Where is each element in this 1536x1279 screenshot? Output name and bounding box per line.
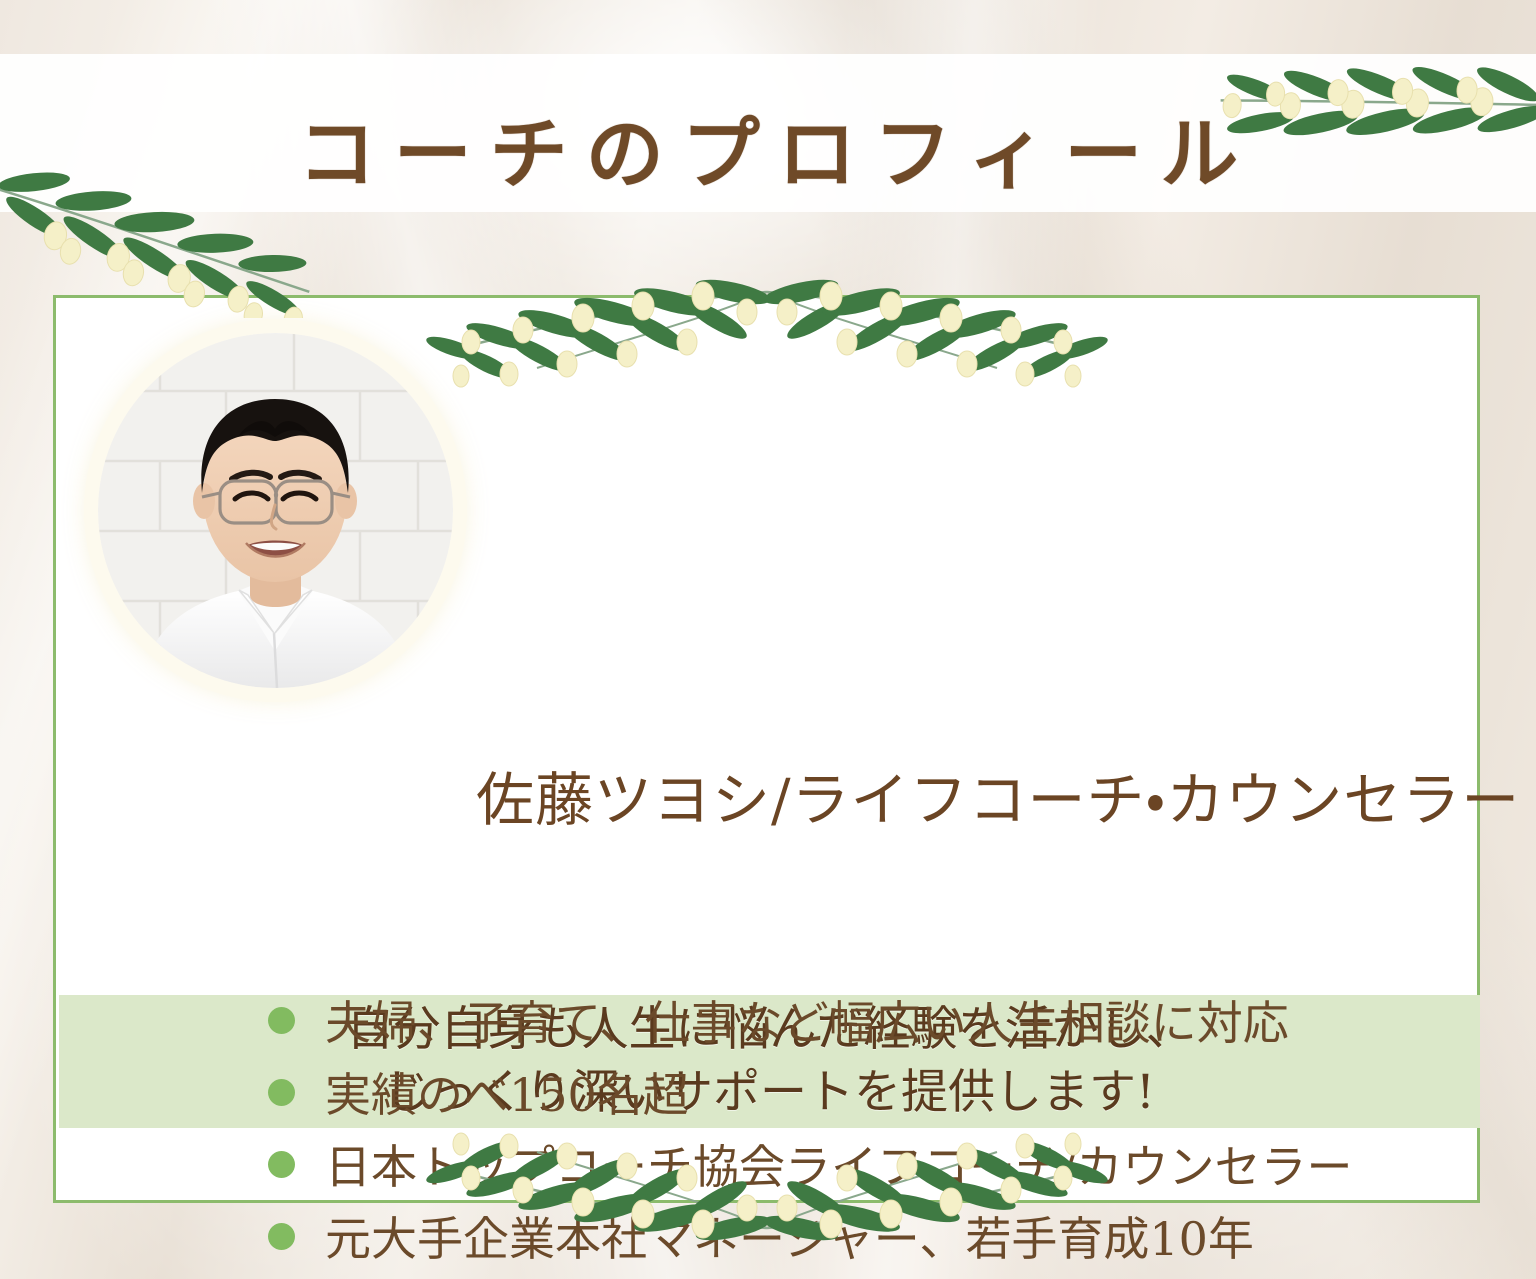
list-item-label: 夫婦、子育て、仕事など幅広い人生相談に対応: [325, 987, 1289, 1053]
profile-page: コーチのプロフィール: [0, 0, 1536, 1279]
page-title: コーチのプロフィール: [0, 104, 1536, 207]
list-item-label: 実績のべ150名超: [325, 1059, 689, 1125]
olive-wreath-icon: [417, 272, 1117, 412]
bullet-dot-icon: [268, 1007, 295, 1034]
bullet-dot-icon: [268, 1151, 295, 1178]
list-item-label: 日本トップコーチ協会ライフコーチ/カウンセラー: [325, 1131, 1353, 1197]
coach-name: 佐藤ツヨシ/ライフコーチ・カウンセラー: [476, 753, 1466, 837]
bullet-dot-icon: [268, 1223, 295, 1250]
bullet-dot-icon: [268, 1079, 295, 1106]
list-item: 夫婦、子育て、仕事など幅広い人生相談に対応: [268, 984, 1448, 1056]
list-item: 日本トップコーチ協会ライフコーチ/カウンセラー: [268, 1128, 1448, 1200]
profile-card: 佐藤ツヨシ/ライフコーチ・カウンセラー 夫婦、子育て、仕事など幅広い人生相談に対…: [53, 295, 1480, 1203]
list-item: 元大手企業本社マネージャー、若手育成10年: [268, 1200, 1448, 1272]
list-item: 実績のべ150名超: [268, 1056, 1448, 1128]
avatar: [98, 333, 453, 688]
credential-list: 夫婦、子育て、仕事など幅広い人生相談に対応 実績のべ150名超 日本トップコーチ…: [268, 984, 1448, 1272]
list-item-label: 元大手企業本社マネージャー、若手育成10年: [325, 1203, 1254, 1269]
